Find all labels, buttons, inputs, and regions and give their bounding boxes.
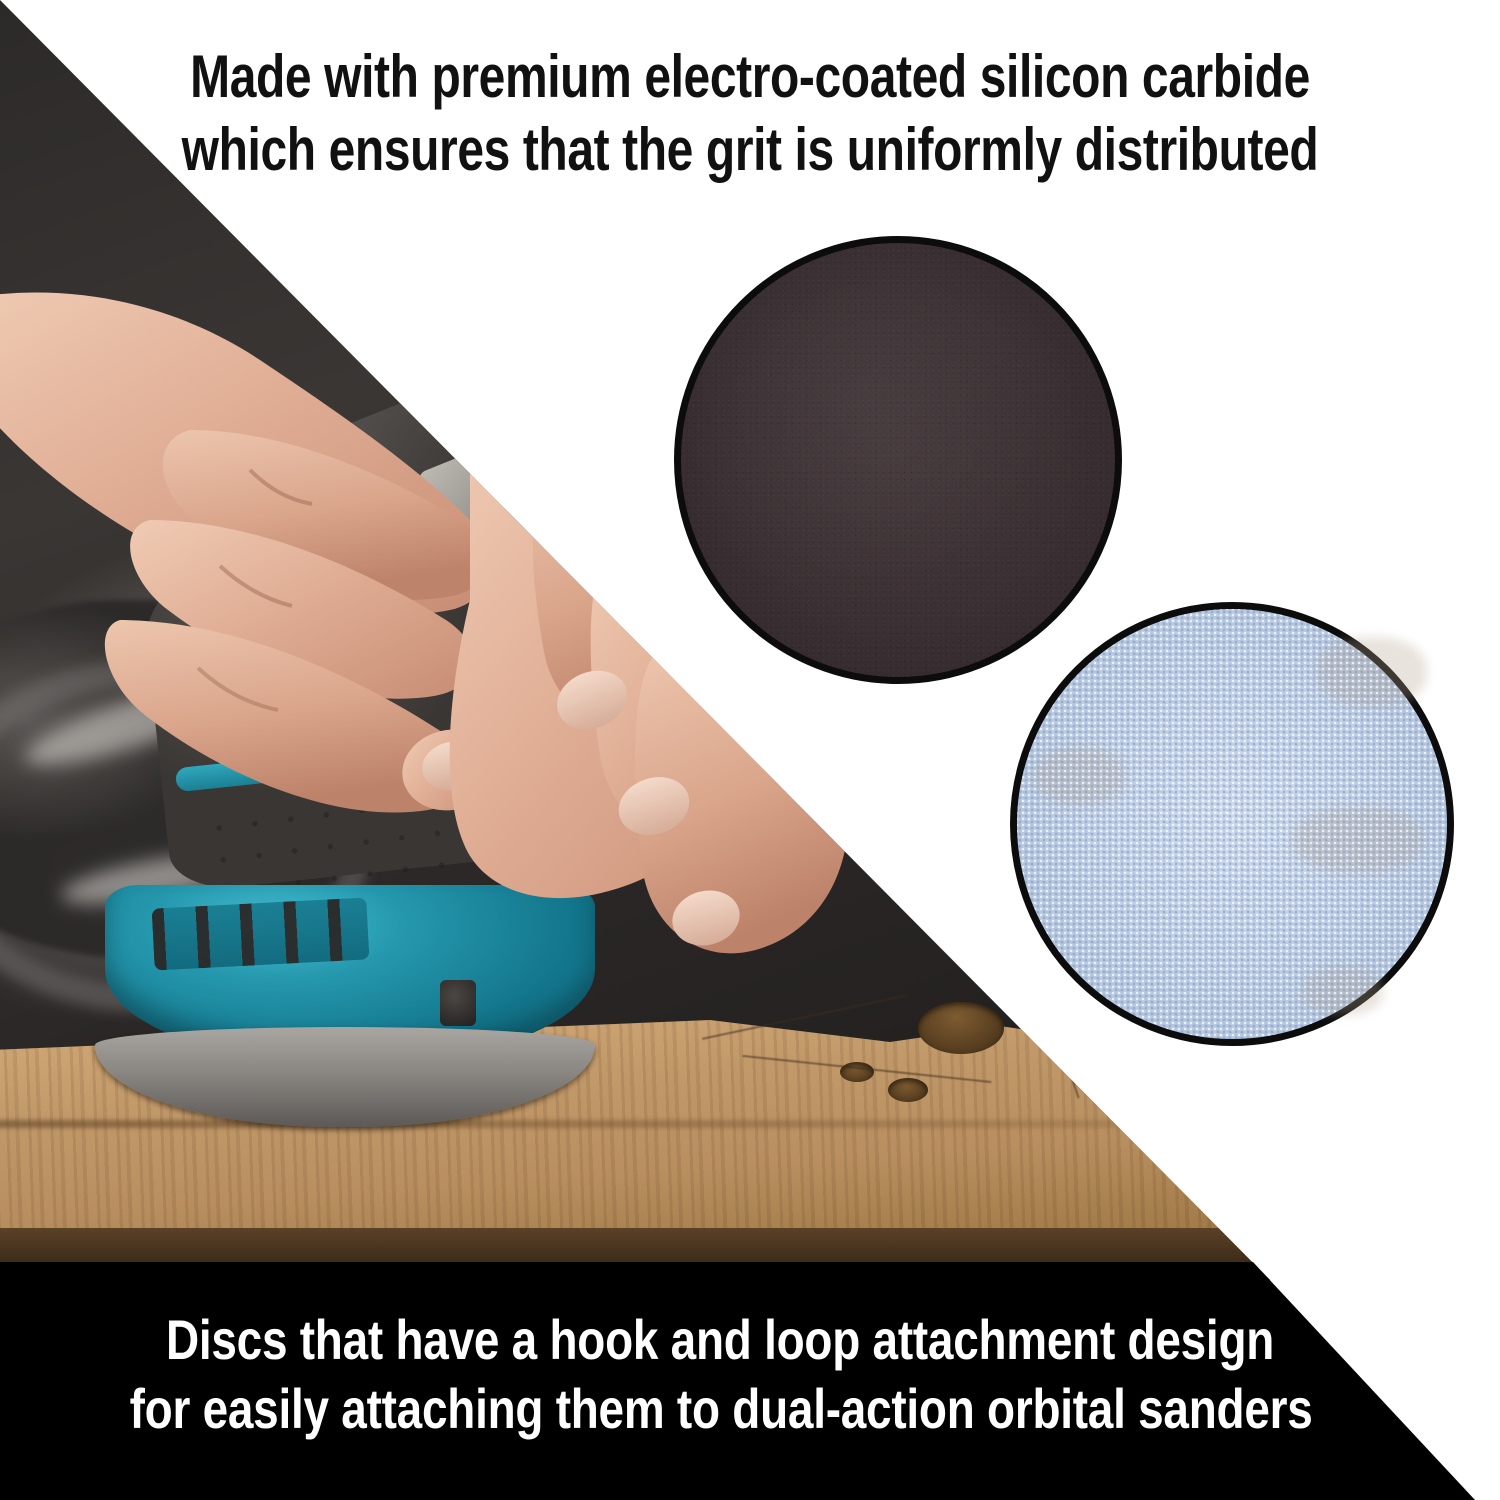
product-photo	[0, 0, 1270, 1280]
banner-line-1: Discs that have a hook and loop attachme…	[130, 1305, 1311, 1374]
workshop-backdrop	[0, 0, 1270, 1280]
backing-smudge	[1303, 967, 1383, 1015]
hands-group	[0, 0, 1270, 1280]
banner-line-2: for easily attaching them to dual-action…	[130, 1374, 1311, 1443]
headline-line-1: Made with premium electro-coated silicon…	[150, 40, 1350, 113]
product-feature-poster: Made with premium electro-coated silicon…	[0, 0, 1500, 1500]
hook-loop-backing-disc	[1010, 602, 1454, 1046]
top-feature-headline: Made with premium electro-coated silicon…	[150, 40, 1350, 186]
backing-smudge	[1035, 747, 1125, 805]
headline-line-2: which ensures that the grit is uniformly…	[150, 113, 1350, 186]
backing-smudge	[1317, 637, 1427, 707]
banner-text-block: Discs that have a hook and loop attachme…	[130, 1305, 1311, 1443]
left-hand	[0, 293, 505, 820]
backing-smudge	[1293, 807, 1423, 873]
grit-face-disc	[674, 236, 1122, 684]
